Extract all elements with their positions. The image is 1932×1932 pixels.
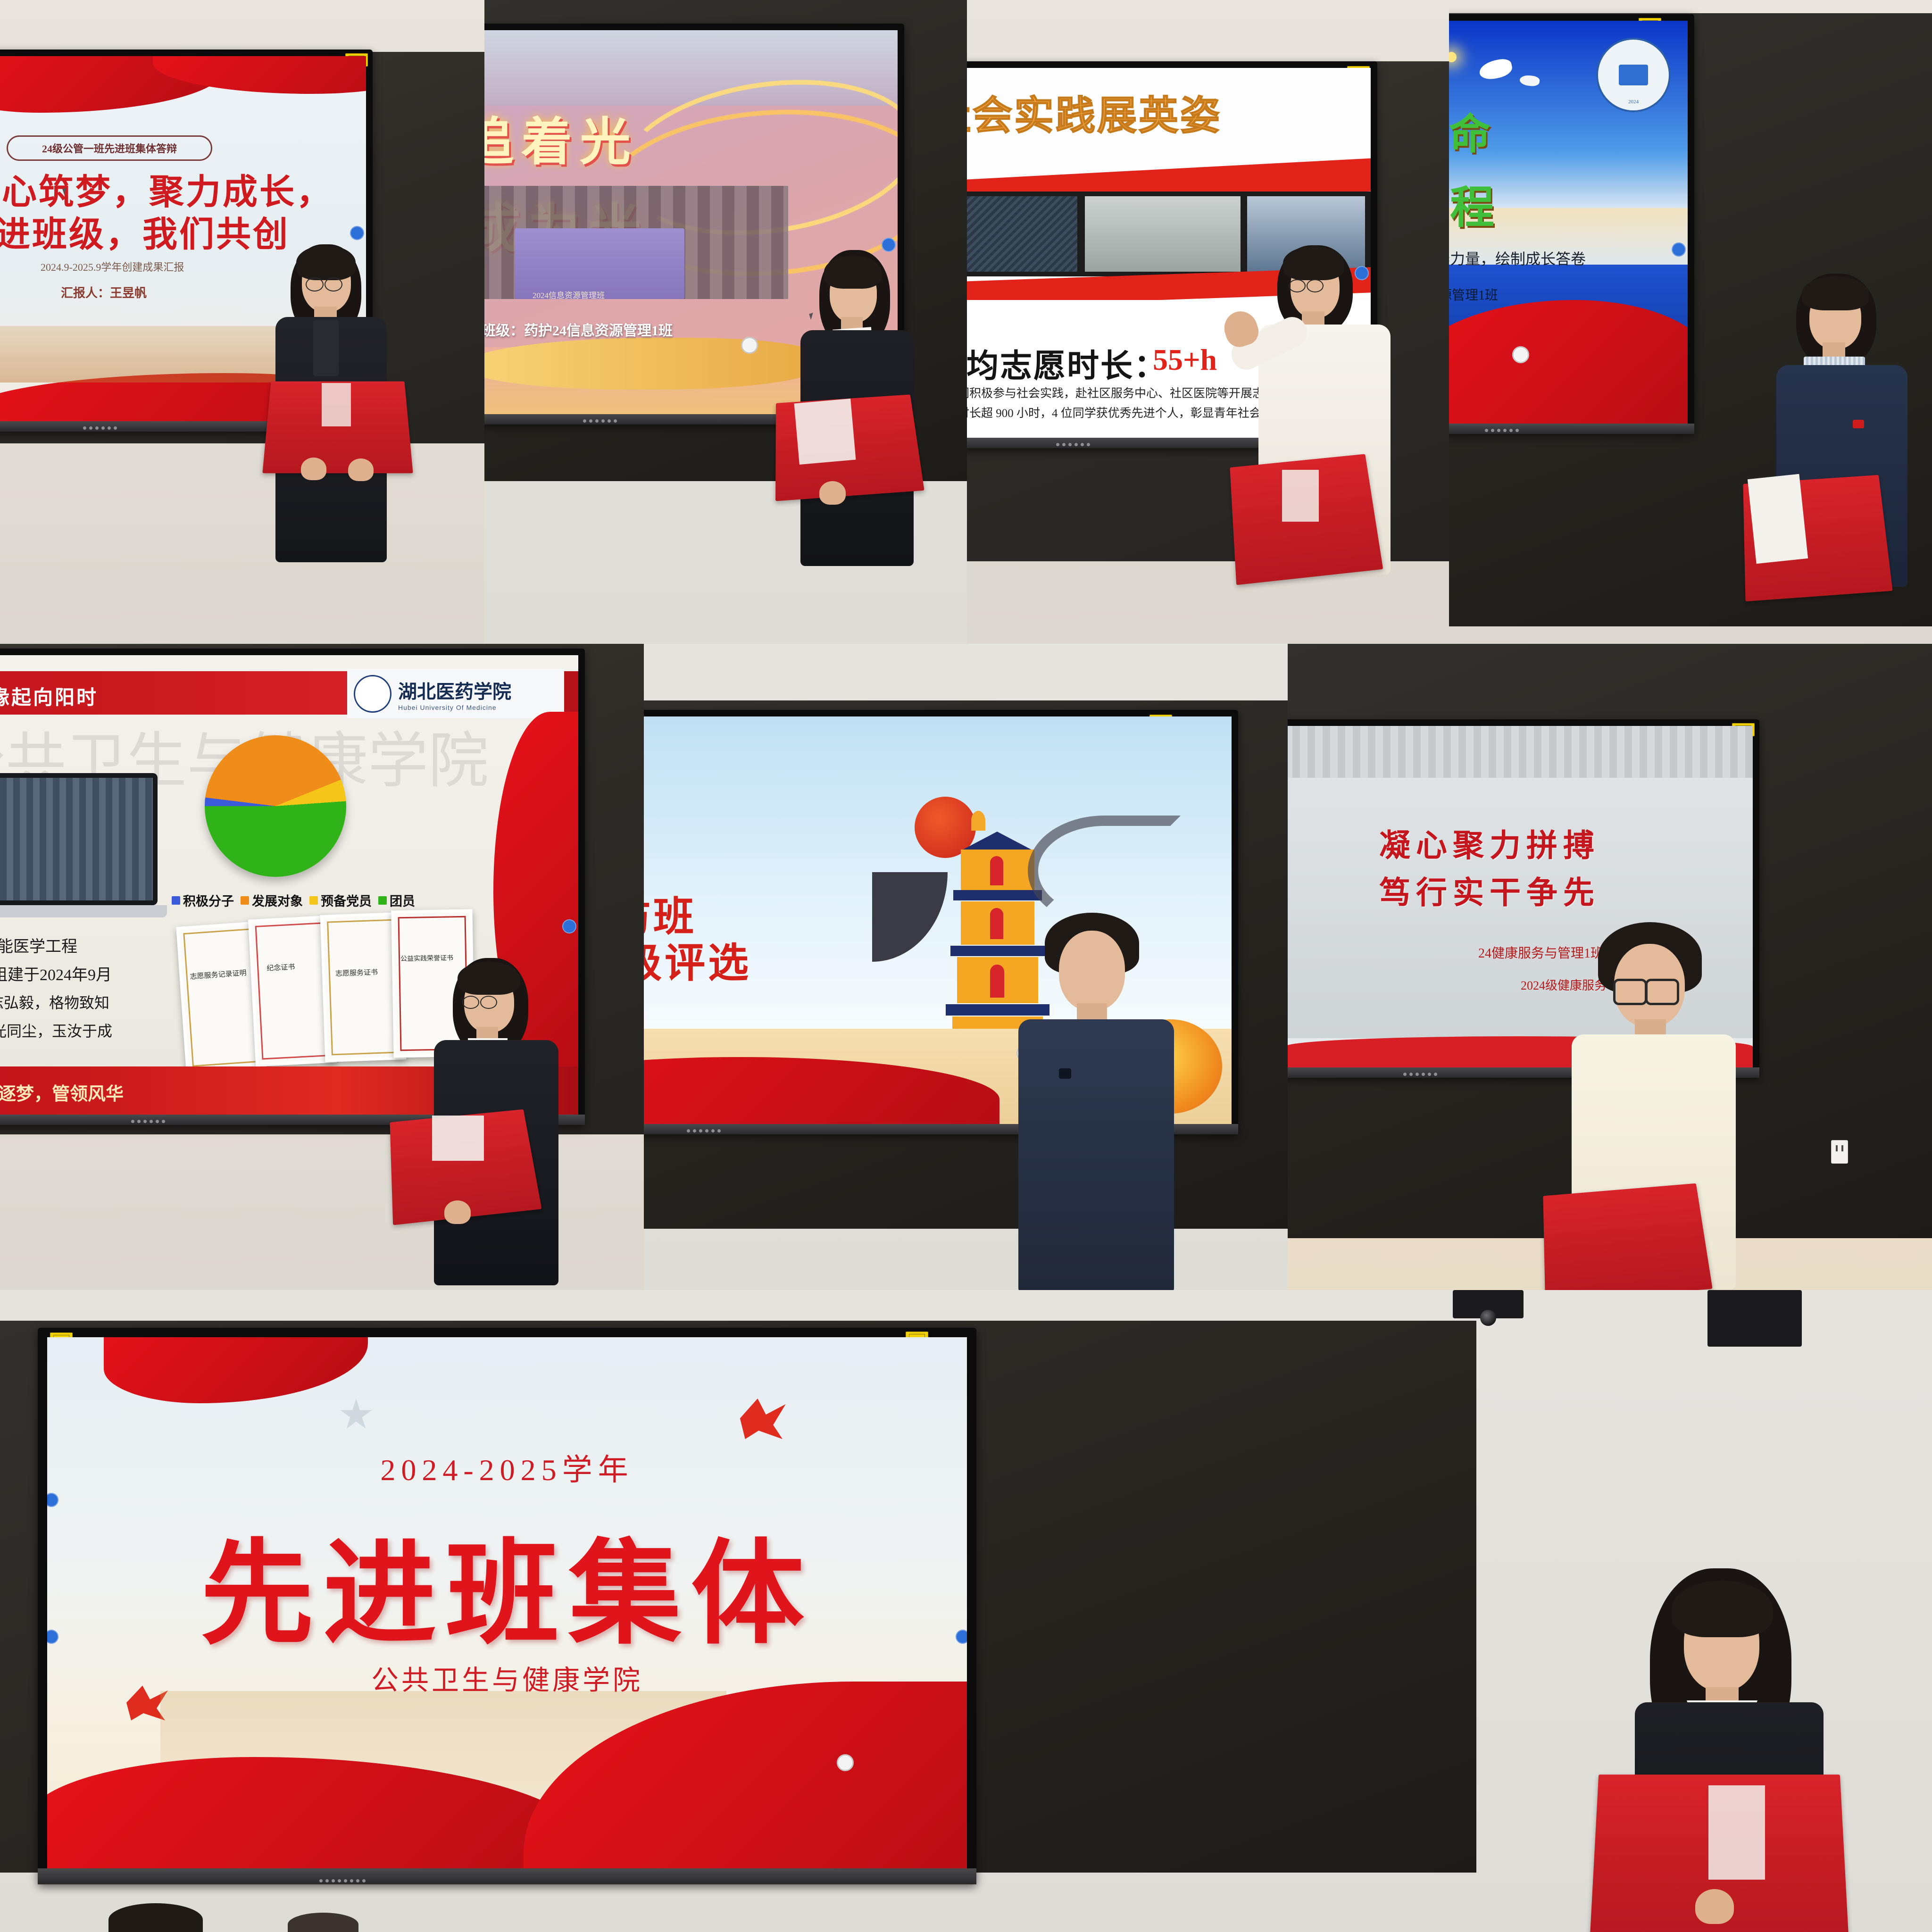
party-pin-icon [1853, 420, 1864, 428]
panel-yufangban: 24预防班 先进班级评选 李明鹬 [644, 644, 1288, 1290]
glasses-icon [306, 277, 324, 291]
photo-collage: 24级公管一班先进班集体答辩 同心筑梦，聚力成长， 先进班级，我们共创 2024… [0, 0, 1932, 1932]
speaker-5 [415, 946, 575, 1285]
slide-presenter: 汇报人：王昱帆 [61, 283, 147, 301]
gear-icon[interactable] [562, 919, 576, 933]
polo-logo-icon [1059, 1068, 1071, 1079]
certificate-title: 志愿服务证书 [335, 967, 378, 978]
certificate-title: 纪念证书 [266, 962, 295, 973]
slide-footer-banner: 信海逐梦，管领风华 [0, 1079, 124, 1105]
slide-badge: 24级公管一班先进班集体答辩 [7, 135, 212, 161]
slide-headline-2: 新程 [1449, 172, 1501, 236]
slide-headline: 社会实践展英姿 [967, 84, 1222, 141]
class-emblem-icon: 2024 [1596, 38, 1671, 112]
background-head-right [288, 1913, 358, 1932]
legend-item-1: 发展对象 [241, 891, 303, 909]
speaker-1 [264, 236, 415, 566]
slide-subtitle: 凝聚青春力量，绘制成长答卷 [1449, 247, 1586, 269]
slide-body-3: 笃志弘毅，格物致知 [0, 991, 109, 1013]
glasses-icon [1613, 979, 1647, 1005]
screen-control-bar[interactable] [1449, 424, 1694, 434]
panel-yuanqi-xiangyang: 缘起向阳时 湖北医药学院 Hubei University Of Medicin… [0, 644, 644, 1290]
ceiling-mount-icon [1707, 1290, 1802, 1347]
speaker-8 [1594, 1564, 1858, 1932]
speaker-7 [1542, 922, 1759, 1290]
emblem-year: 2024 [1628, 99, 1639, 105]
slide-headline-1: 使命 [1449, 101, 1497, 161]
panel-social-practice: 社会实践展英姿 人均志愿时长： 55+h 同学们积极参与社会实践，赴社区服务中心… [967, 0, 1449, 644]
slide-headline-2: 先进班级评选 [644, 930, 751, 989]
slide-stat-label: 人均志愿时长： [967, 340, 1167, 386]
university-name-en: Hubei University Of Medicine [398, 704, 511, 711]
slide-headline-1: 追着光 [484, 101, 638, 175]
legend-item-0: 积极分子 [172, 891, 234, 909]
speaker-4 [1760, 264, 1930, 594]
slide-banner-caption: 2024信息资源管理班 [533, 289, 605, 300]
slide-class-label: 班级：药护24信息资源管理1班 [484, 319, 673, 340]
slide-body-4: 和光同尘，玉汝于成 [0, 1019, 112, 1041]
slide-headline-2: 先进班级，我们共创 [0, 206, 290, 257]
slide-main-title: 先进班集体 [47, 1502, 967, 1666]
gear-icon[interactable] [1672, 242, 1686, 257]
panel-jiankang-fuwu: 凝心聚力拼搏 笃行实干争先 24健康服务与管理1班先进班集体 2024级健康服务… [1288, 644, 1932, 1290]
slide-headline-1: 凝心聚力拼搏 [1379, 820, 1600, 866]
gear-icon[interactable] [956, 1630, 967, 1644]
smart-screen[interactable]: 2024-2025学年 先进班集体 公共卫生与健康学院 [38, 1328, 976, 1884]
wall-socket-icon[interactable] [1831, 1140, 1848, 1164]
university-seal-icon [354, 675, 391, 713]
panel-gongguan-presentation: 24级公管一班先进班集体答辩 同心筑梦，聚力成长， 先进班级，我们共创 2024… [0, 0, 484, 644]
background-head-left [108, 1903, 203, 1932]
pie-chart [205, 735, 346, 877]
glasses-icon [1645, 979, 1679, 1005]
slide-stat-value: 55+h [1153, 342, 1217, 377]
dove-icon [736, 1394, 788, 1441]
slide-subtitle: 2024.9-2025.9学年创建成果汇报 [41, 259, 184, 274]
slide-body-1: 24智能医学工程 [0, 933, 77, 957]
panel-shiming-xincheng: 2024 使命 新程 凝聚青春力量，绘制成长答卷 信息资源管理1班 [1449, 0, 1932, 644]
university-name-cn: 湖北医药学院 [398, 676, 511, 704]
slide-year: 2024-2025学年 [47, 1446, 967, 1489]
glasses-icon [325, 277, 342, 291]
speaker-6 [988, 913, 1196, 1290]
glasses-icon [1307, 279, 1324, 292]
screen-control-bar[interactable] [38, 1868, 976, 1884]
screen-dot-icon[interactable] [837, 1754, 854, 1771]
slide-body-2: 班级组建于2024年9月 [0, 962, 112, 985]
red-folder [1543, 1183, 1712, 1290]
speaker-2 [786, 245, 942, 566]
legend-item-3: 团员 [378, 891, 415, 909]
glasses-icon [480, 996, 497, 1009]
slide-class-label: 信息资源管理1班 [1449, 285, 1498, 304]
screen-dot-icon[interactable] [741, 337, 758, 354]
panel-main-title: 2024-2025学年 先进班集体 公共卫生与健康学院 [0, 1290, 1932, 1932]
screen-dot-icon[interactable] [1512, 346, 1529, 363]
smart-screen[interactable]: 2024 使命 新程 凝聚青春力量，绘制成长答卷 信息资源管理1班 [1449, 14, 1694, 434]
ceiling-camera-icon [1453, 1290, 1524, 1318]
speaker-3 [1222, 226, 1420, 585]
pie-chart-legend: 积极分子 发展对象 预备党员 团员 [172, 891, 415, 909]
slide-header-label: 缘起向阳时 [0, 682, 98, 710]
legend-item-2: 预备党员 [309, 891, 372, 909]
slide-headline-2: 笃行实干争先 [1379, 867, 1600, 913]
glasses-icon [462, 996, 479, 1009]
panel-xinxi-ziyuan-presentation: 追着光 成为光 2024信息资源管理班 班级：药护24信息资源管理1班 [484, 0, 967, 644]
glasses-icon [1289, 279, 1306, 292]
